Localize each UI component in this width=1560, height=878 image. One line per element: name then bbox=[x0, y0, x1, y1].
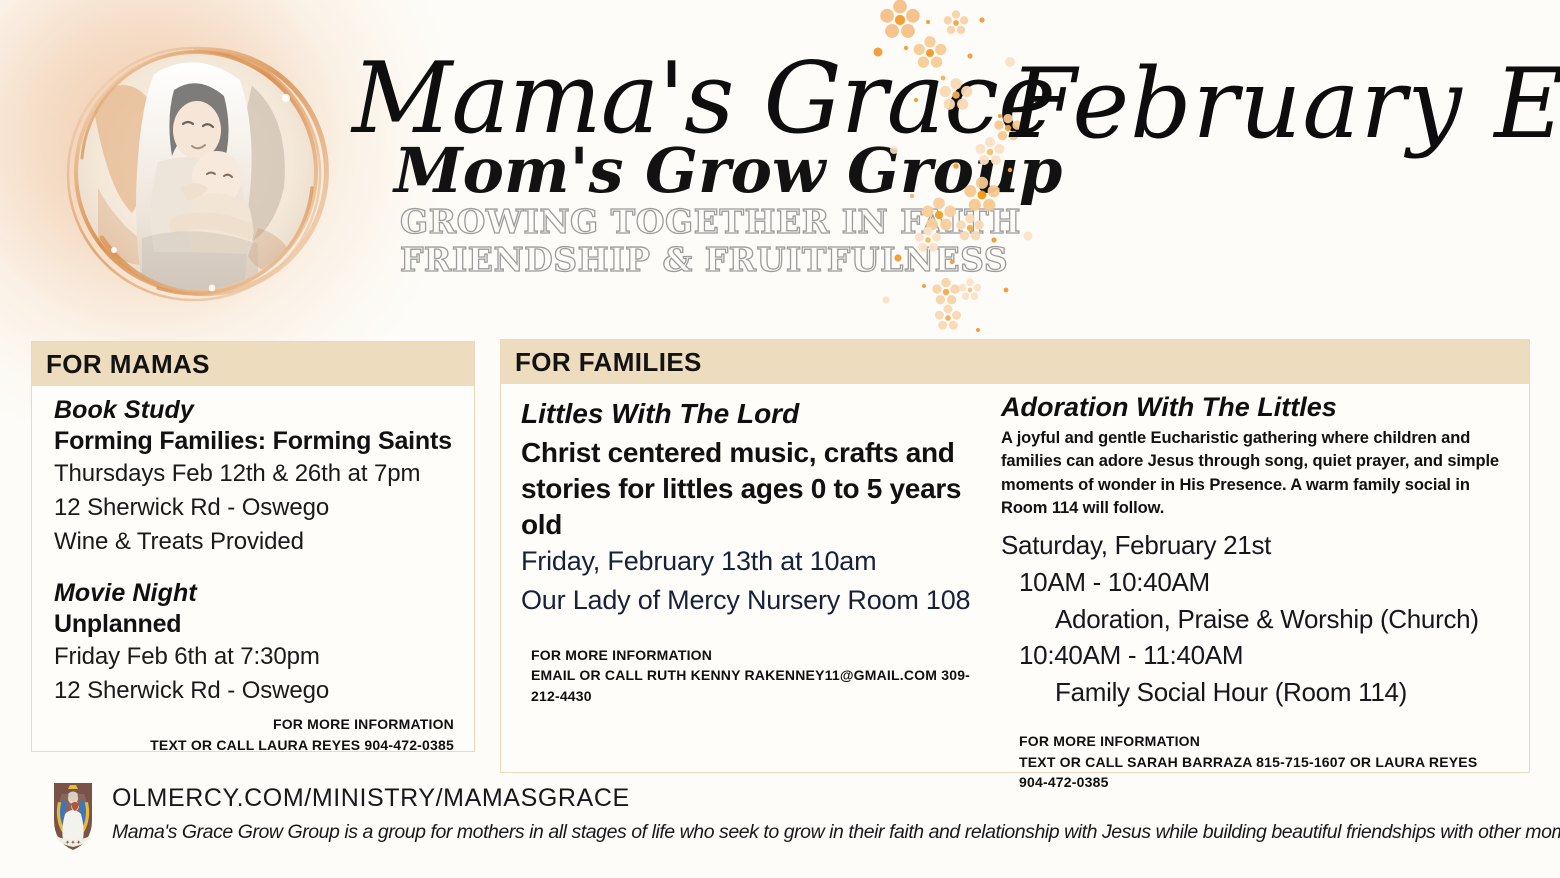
schedule-time: 10AM - 10:40AM bbox=[1001, 564, 1503, 601]
panel-for-families-header: FOR FAMILIES bbox=[501, 340, 1529, 384]
event-title: Adoration With The Littles bbox=[1001, 392, 1503, 423]
event-movie-night: Movie Night Unplanned Friday Feb 6th at … bbox=[54, 579, 458, 708]
panel-for-mamas-title: FOR MAMAS bbox=[46, 349, 210, 380]
event-detail-line: Wine & Treats Provided bbox=[54, 525, 458, 559]
panel-for-families: FOR FAMILIES Littles With The Lord Chris… bbox=[500, 339, 1530, 773]
event-description: A joyful and gentle Eucharistic gatherin… bbox=[1001, 427, 1503, 521]
brand-title-block: Mama's Grace Mom's Grow Group GROWING TO… bbox=[352, 52, 952, 277]
event-detail-line: 12 Sherwick Rd - Oswego bbox=[54, 491, 458, 525]
event-title: Littles With The Lord bbox=[521, 398, 985, 430]
svg-text:✦ ✦ ✦: ✦ ✦ ✦ bbox=[65, 840, 80, 846]
event-book-study: Book Study Forming Families: Forming Sai… bbox=[54, 396, 458, 559]
event-subtitle: Forming Families: Forming Saints bbox=[54, 427, 458, 456]
brand-tagline-line-2: FRIENDSHIP & FRUITFULNESS bbox=[400, 242, 952, 278]
season-headline: February Events bbox=[1010, 56, 1555, 152]
panel-for-mamas-header: FOR MAMAS bbox=[32, 342, 474, 386]
contact-detail[interactable]: TEXT OR CALL LAURA REYES 904-472-0385 bbox=[54, 735, 454, 755]
panel-for-families-title: FOR FAMILIES bbox=[515, 347, 702, 378]
event-detail-line: Thursdays Feb 12th & 26th at 7pm bbox=[54, 457, 458, 491]
mamas-contact-block: FOR MORE INFORMATION TEXT OR CALL LAURA … bbox=[54, 714, 458, 755]
madonna-and-child-artwork bbox=[62, 38, 330, 306]
littles-contact-block: FOR MORE INFORMATION EMAIL OR CALL RUTH … bbox=[521, 645, 985, 706]
panel-for-mamas-body: Book Study Forming Families: Forming Sai… bbox=[32, 386, 474, 755]
event-title: Movie Night bbox=[54, 579, 458, 608]
event-description-line: stories for littles ages 0 to 5 years ol… bbox=[521, 471, 985, 543]
website-url[interactable]: OLMERCY.COM/MINISTRY/MAMASGRACE bbox=[112, 784, 1560, 813]
mission-statement: Mama's Grace Grow Group is a group for m… bbox=[112, 821, 1560, 844]
event-location: Our Lady of Mercy Nursery Room 108 bbox=[521, 581, 985, 619]
our-lady-of-mercy-crest-icon: ✦ ✦ ✦ bbox=[44, 780, 102, 852]
flyer-footer: ✦ ✦ ✦ OLMERCY.COM/MINISTRY/MAMASGRACE Ma… bbox=[40, 778, 1540, 868]
event-date: Saturday, February 21st bbox=[1001, 527, 1503, 564]
panel-for-families-body: Littles With The Lord Christ centered mu… bbox=[501, 384, 1529, 792]
schedule-time: 10:40AM - 11:40AM bbox=[1001, 637, 1503, 674]
event-date: Friday, February 13th at 10am bbox=[521, 542, 985, 580]
event-spacer bbox=[54, 559, 458, 579]
schedule-activity: Adoration, Praise & Worship (Church) bbox=[1001, 601, 1503, 638]
event-detail-line: 12 Sherwick Rd - Oswego bbox=[54, 674, 458, 708]
event-detail-line: Friday Feb 6th at 7:30pm bbox=[54, 640, 458, 674]
flyer-header: Mama's Grace Mom's Grow Group GROWING TO… bbox=[0, 0, 1560, 330]
brand-tagline-line-1: GROWING TOGETHER IN FAITH bbox=[400, 204, 952, 240]
contact-heading: FOR MORE INFORMATION bbox=[531, 645, 985, 665]
contact-detail[interactable]: EMAIL OR CALL RUTH KENNY RAKENNEY11@GMAI… bbox=[531, 665, 985, 706]
event-subtitle: Unplanned bbox=[54, 610, 458, 639]
event-adoration-with-the-littles: Adoration With The Littles A joyful and … bbox=[993, 384, 1513, 792]
schedule-activity: Family Social Hour (Room 114) bbox=[1001, 674, 1503, 711]
event-description-line: Christ centered music, crafts and bbox=[521, 435, 985, 471]
contact-heading: FOR MORE INFORMATION bbox=[54, 714, 454, 734]
brand-title-primary: Mama's Grace bbox=[352, 52, 952, 146]
panel-for-mamas: FOR MAMAS Book Study Forming Families: F… bbox=[31, 341, 475, 752]
brand-title-secondary: Mom's Grow Group bbox=[394, 140, 952, 202]
footer-text-block: OLMERCY.COM/MINISTRY/MAMASGRACE Mama's G… bbox=[112, 784, 1560, 844]
event-title: Book Study bbox=[54, 396, 458, 425]
event-littles-with-the-lord: Littles With The Lord Christ centered mu… bbox=[501, 384, 993, 792]
contact-heading: FOR MORE INFORMATION bbox=[1019, 731, 1503, 751]
